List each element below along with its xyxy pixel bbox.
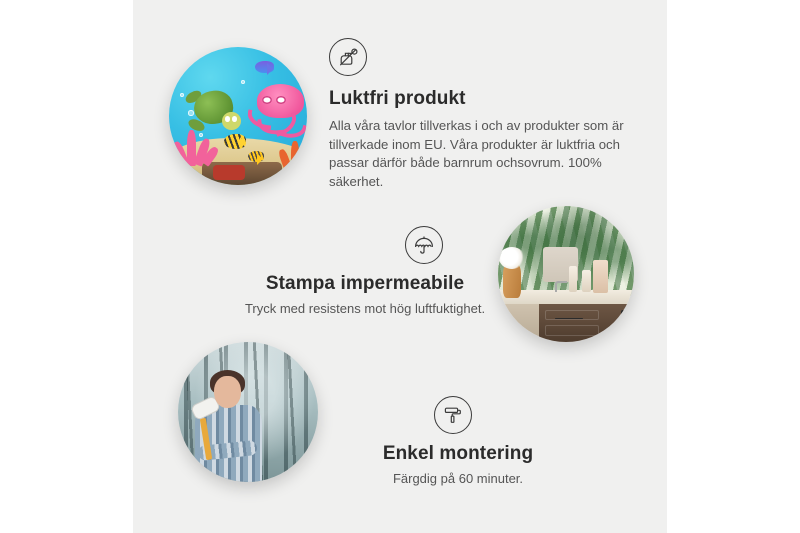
feature-title: Enkel montering [323, 443, 593, 465]
content-stage: Luktfri produkt Alla våra tavlor tillver… [133, 0, 667, 533]
pink-coral [175, 130, 216, 166]
octopus-illustration [249, 84, 304, 142]
paint-roller-icon [434, 396, 472, 434]
tropical-fish [255, 61, 274, 73]
faucet-icon [555, 281, 567, 292]
feature-waterproof: Stampa impermeabile Tryck med resistens … [215, 226, 515, 318]
hanging-towel [593, 260, 608, 293]
feature-title: Luktfri produkt [329, 88, 629, 110]
media-circle-forest[interactable] [178, 342, 318, 482]
media-circle-bathroom[interactable] [498, 206, 634, 342]
orange-coral [279, 141, 307, 171]
toiletry-bottle [582, 270, 591, 292]
toiletry-bottle [569, 266, 577, 292]
bathroom-scene [498, 206, 634, 342]
tropical-fish [248, 151, 265, 162]
feature-easy-mounting: Enkel montering Färgdig på 60 minuter. [323, 396, 593, 488]
umbrella-icon [405, 226, 443, 264]
feature-odour-free: Luktfri produkt Alla våra tavlor tillver… [329, 38, 629, 192]
feature-body: Tryck med resistens mot hög luftfuktighe… [215, 300, 515, 318]
media-circle-underwater[interactable] [169, 47, 307, 185]
feature-body: Färgdig på 60 minuter. [323, 470, 593, 488]
bubble-icon [180, 93, 184, 97]
wood-vanity-cabinet [539, 304, 634, 342]
screenshot-canvas: Luktfri produkt Alla våra tavlor tillver… [0, 0, 800, 533]
feature-body: Alla våra tavlor tillverkas i och av pro… [329, 117, 629, 192]
tropical-fish [224, 134, 246, 149]
sea-turtle-illustration [187, 86, 242, 132]
no-fragrance-icon [329, 38, 367, 76]
woman-face [214, 376, 241, 408]
feature-title: Stampa impermeabile [215, 273, 515, 295]
